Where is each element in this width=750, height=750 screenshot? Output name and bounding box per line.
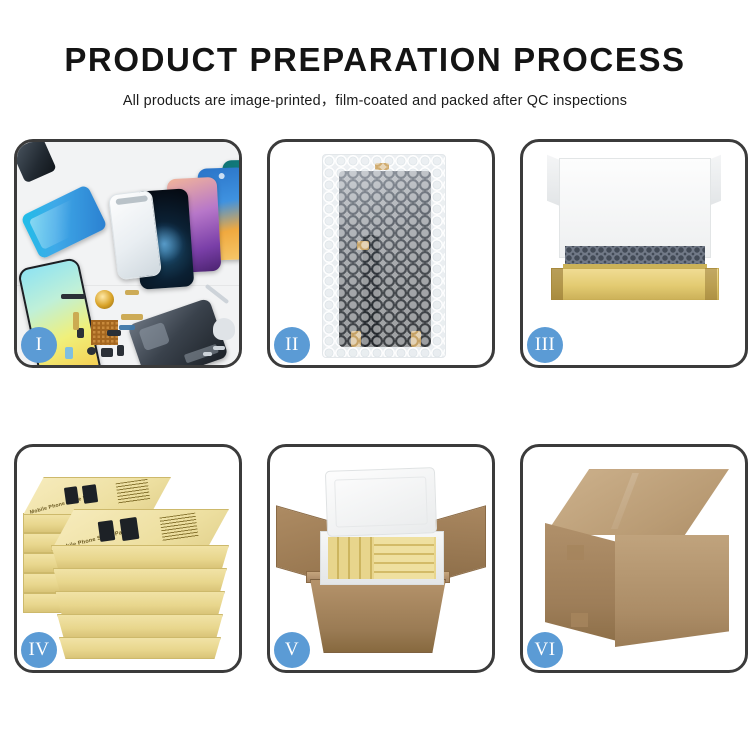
tape-patch-icon <box>571 613 588 627</box>
hand-icon <box>213 318 235 340</box>
speaker-icon <box>87 347 96 355</box>
yellow-boxes-inside <box>374 537 434 579</box>
bubble-texture <box>323 155 445 357</box>
process-step-2[interactable]: II <box>267 139 495 368</box>
process-step-3[interactable]: III <box>520 139 748 368</box>
yellow-box-tray-icon <box>551 268 719 300</box>
page-subtitle: All products are image-printed，film-coat… <box>0 89 750 110</box>
camera-module-icon <box>101 348 113 357</box>
process-step-1[interactable]: I <box>14 139 242 368</box>
printed-phone-image <box>120 517 140 541</box>
screwdriver-icon <box>213 346 225 350</box>
chip-icon <box>117 345 124 356</box>
carton-front-face <box>310 579 446 653</box>
copper-coil-icon <box>95 290 114 309</box>
box-tray-left-side <box>551 268 563 300</box>
printed-text-lines <box>116 479 151 505</box>
box-side <box>53 568 227 592</box>
step-badge-6: VI <box>527 632 563 668</box>
carton-top-face <box>545 469 729 535</box>
tape-patch-icon <box>567 545 584 560</box>
flex-cable-icon <box>119 325 135 330</box>
process-step-4[interactable]: Mobile Phone Spare Parts Mobile Phone Sp… <box>14 444 242 673</box>
bubble-wrap-bag-icon <box>322 154 446 358</box>
white-box-lid-icon <box>559 158 711 258</box>
cyan-screen-icon <box>20 184 108 260</box>
foam-lid-icon <box>325 467 437 537</box>
box-side <box>55 591 225 615</box>
process-step-5[interactable]: V <box>267 444 495 673</box>
box-side <box>51 545 229 569</box>
step-badge-2: II <box>274 327 310 363</box>
screwdriver-icon <box>203 352 212 356</box>
dark-housing-icon <box>17 142 57 183</box>
page-header: PRODUCT PREPARATION PROCESS All products… <box>0 0 750 110</box>
flex-cable-icon <box>125 290 139 295</box>
step-badge-3: III <box>527 327 563 363</box>
step-badge-1: I <box>21 327 57 363</box>
box-side <box>57 614 223 638</box>
flex-cable-icon <box>121 314 143 320</box>
printed-text-lines <box>160 513 199 542</box>
flex-cable-icon <box>73 312 79 330</box>
chip-icon <box>61 294 85 299</box>
small-display-icon <box>65 347 73 359</box>
process-step-6[interactable]: VI <box>520 444 748 673</box>
box-tray-right-side <box>705 268 717 300</box>
process-step-grid: I II III <box>14 139 736 673</box>
page-title: PRODUCT PREPARATION PROCESS <box>0 40 750 80</box>
printed-phone-image <box>64 486 79 505</box>
step-badge-5: V <box>274 632 310 668</box>
printed-phone-image <box>98 520 116 542</box>
step-badge-4: IV <box>21 632 57 668</box>
box-side <box>59 637 221 659</box>
box-stack: Mobile Phone Spare Parts Mobile Phone Sp… <box>21 461 237 657</box>
printed-phone-image <box>82 484 98 504</box>
chip-icon <box>107 330 121 336</box>
carton-front-face <box>615 535 729 647</box>
